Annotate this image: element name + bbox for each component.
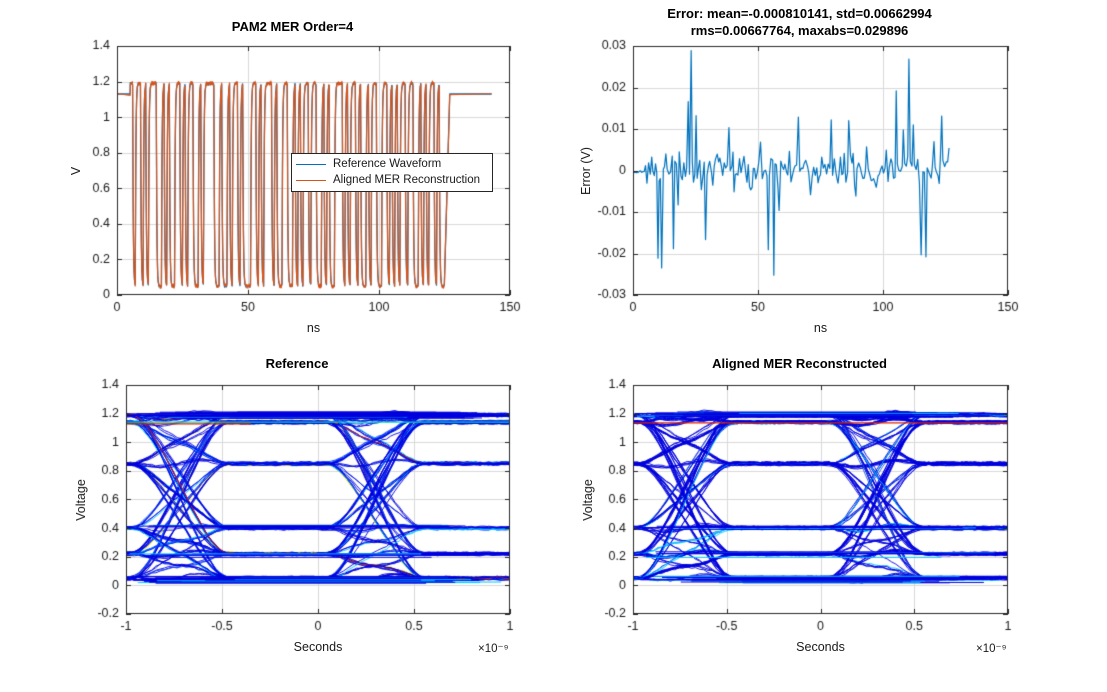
yaxis-label-eye-reconstructed: Voltage — [581, 479, 595, 521]
xaxis-exponent-eye-reference: ×10⁻⁹ — [478, 641, 509, 655]
plot-title-error-plot: Error: mean=-0.000810141, std=0.00662994… — [561, 5, 1038, 39]
plot-title-eye-reference: Reference — [54, 355, 540, 372]
plot-panel-eye-reference: ReferenceSeconds×10⁻⁹Voltage — [54, 341, 540, 666]
plot-canvas-eye-reference — [54, 341, 540, 666]
error-title-line2: rms=0.00667764, maxabs=0.029896 — [561, 22, 1038, 39]
plot-canvas-error-plot — [561, 2, 1038, 347]
legend-item-label: Reference Waveform — [333, 158, 441, 170]
plot-title-waveform-overlay: PAM2 MER Order=4 — [45, 18, 540, 35]
legend-item-label: Aligned MER Reconstruction — [333, 174, 480, 186]
legend-item[interactable]: Reference Waveform — [296, 156, 488, 172]
plot-panel-error-plot: Error: mean=-0.000810141, std=0.00662994… — [561, 2, 1038, 347]
legend-line-icon — [296, 180, 326, 181]
plot-title-eye-reconstructed: Aligned MER Reconstructed — [561, 355, 1038, 372]
legend-waveform-overlay[interactable]: Reference WaveformAligned MER Reconstruc… — [291, 153, 493, 192]
legend-line-icon — [296, 164, 326, 165]
xaxis-label-eye-reference: Seconds — [126, 640, 510, 654]
xaxis-label-eye-reconstructed: Seconds — [633, 640, 1008, 654]
error-title-line1: Error: mean=-0.000810141, std=0.00662994 — [561, 5, 1038, 22]
yaxis-label-waveform-overlay: V — [69, 166, 83, 174]
xaxis-exponent-eye-reconstructed: ×10⁻⁹ — [976, 641, 1007, 655]
yaxis-label-error-plot: Error (V) — [579, 147, 593, 195]
xaxis-label-waveform-overlay: ns — [117, 321, 510, 335]
plot-panel-eye-reconstructed: Aligned MER ReconstructedSeconds×10⁻⁹Vol… — [561, 341, 1038, 666]
legend-item[interactable]: Aligned MER Reconstruction — [296, 172, 488, 188]
xaxis-label-error-plot: ns — [633, 321, 1008, 335]
plot-canvas-eye-reconstructed — [561, 341, 1038, 666]
plot-panel-waveform-overlay: PAM2 MER Order=4nsVReference WaveformAli… — [45, 2, 540, 347]
yaxis-label-eye-reference: Voltage — [74, 479, 88, 521]
matlab-figure: PAM2 MER Order=4nsVReference WaveformAli… — [0, 0, 1107, 692]
